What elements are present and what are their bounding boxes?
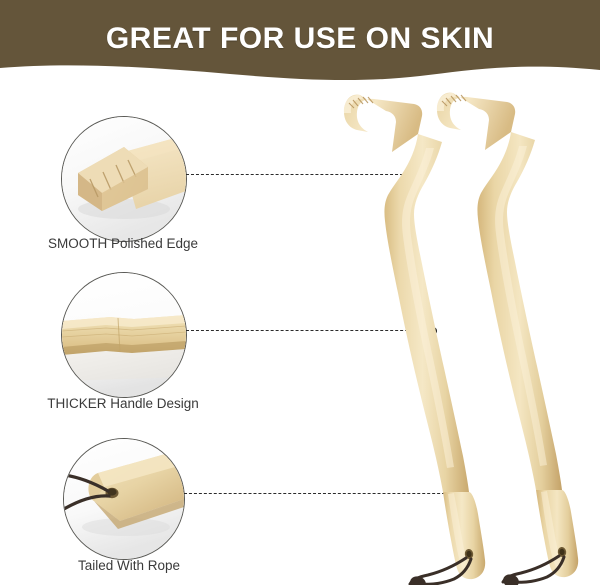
bamboo-handle-rope-hole-closeup-icon	[64, 439, 184, 559]
header-banner: GREAT FOR USE ON SKIN	[0, 0, 600, 92]
infographic-canvas: GREAT FOR USE ON SKIN	[0, 0, 600, 585]
shaft-right	[477, 132, 562, 490]
bamboo-back-scratcher-pair-illustration	[330, 88, 600, 585]
product-image-bamboo-back-scratchers	[330, 88, 600, 585]
shaft-left	[384, 134, 469, 492]
callout-label-tailed-with-rope: Tailed With Rope	[14, 558, 244, 573]
callout-label-thicker-handle-design: THICKER Handle Design	[8, 396, 238, 411]
page-title: GREAT FOR USE ON SKIN	[0, 22, 600, 56]
callout-circle-thicker-handle-design	[61, 272, 187, 398]
bamboo-handle-thickness-closeup-icon	[62, 273, 186, 397]
callout-circle-tailed-with-rope	[63, 438, 185, 560]
back-scratcher-left	[344, 95, 485, 585]
bamboo-claw-head-closeup-icon	[62, 117, 186, 241]
callout-circle-smooth-polished-edge	[61, 116, 187, 242]
callout-label-smooth-polished-edge: SMOOTH Polished Edge	[8, 236, 238, 251]
